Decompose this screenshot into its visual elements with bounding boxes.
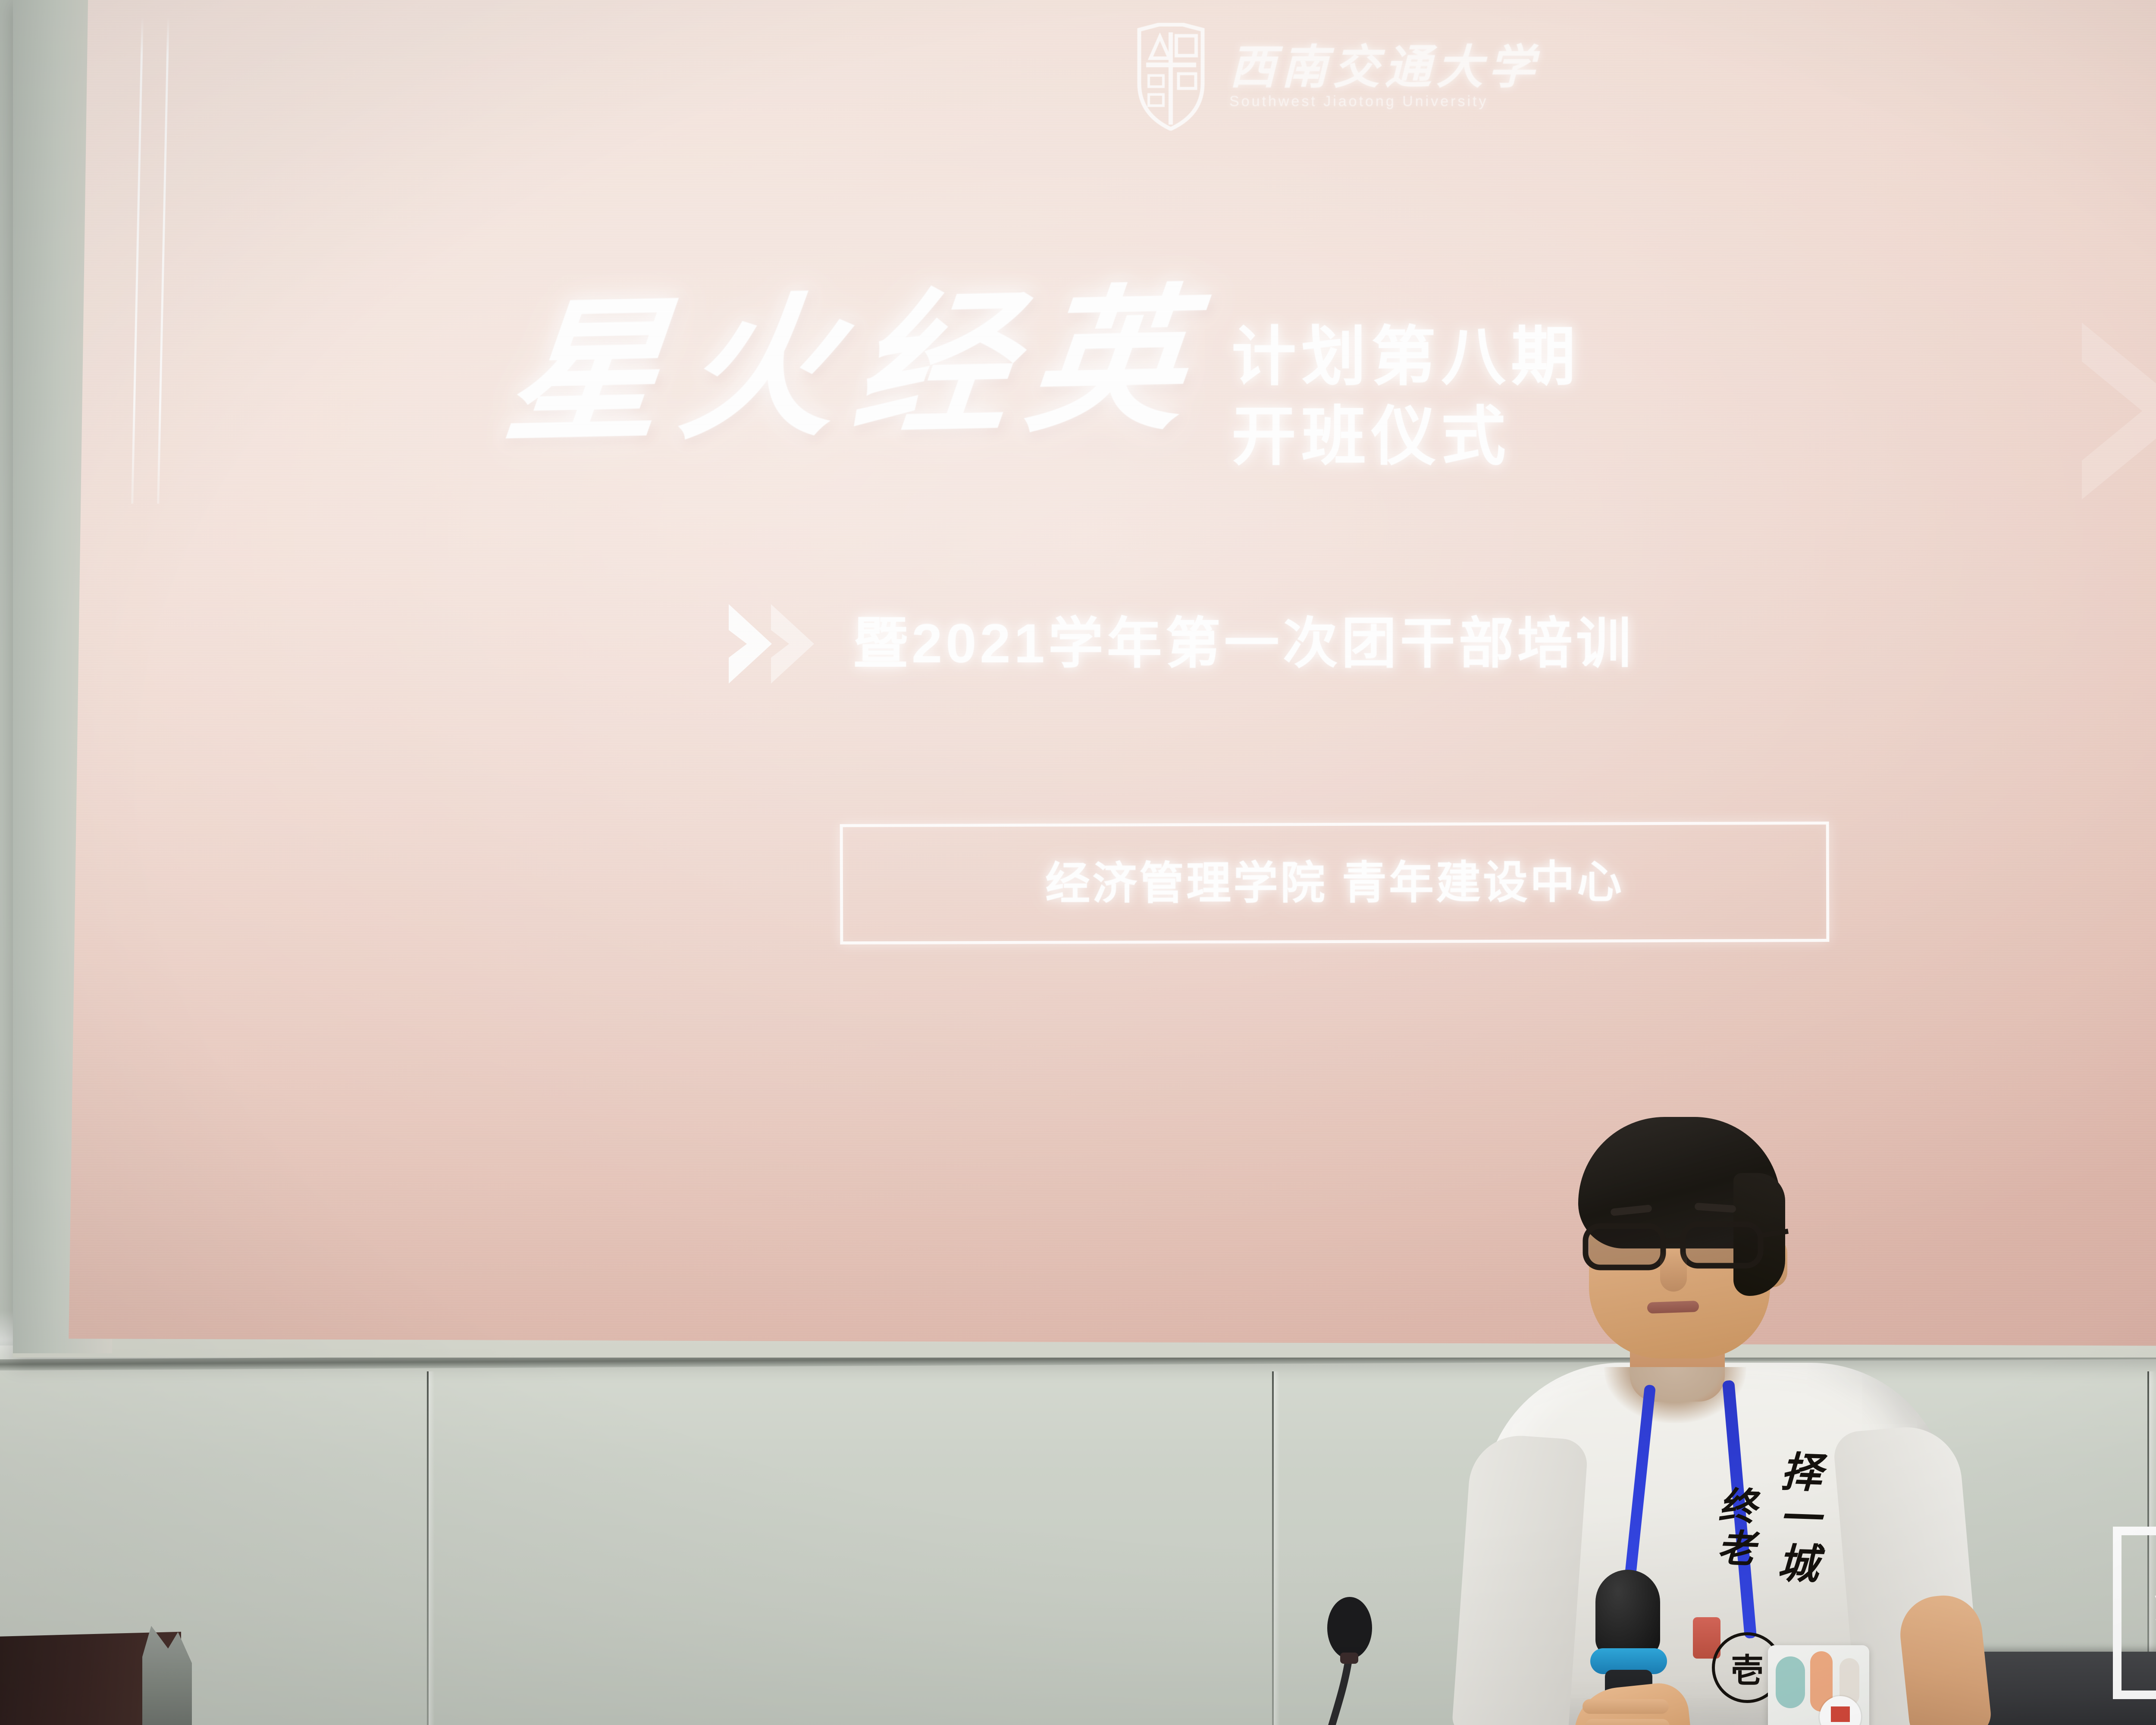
speaker-mouth	[1647, 1301, 1699, 1314]
id-badge-icon	[1768, 1645, 1869, 1725]
organizer-box: 经济管理学院 青年建设中心	[840, 822, 1830, 944]
gooseneck-microphone-icon	[1294, 1596, 1406, 1725]
tshirt-calligraphy-col2: 终老	[1704, 1485, 1762, 1571]
speaker-right-arm	[1896, 1592, 1993, 1725]
organizer-text: 经济管理学院 青年建设中心	[1045, 860, 1624, 906]
double-chevron-right-icon	[724, 601, 823, 687]
chevron-right-decor	[2065, 318, 2156, 504]
tshirt-calligraphy-col1: 择一城	[1764, 1449, 1828, 1589]
vertical-double-line-decor	[128, 16, 189, 504]
slide-subtitle: 暨2021学年第一次团干部培训	[853, 616, 1635, 671]
bracket-frame-icon	[2113, 1527, 2156, 1699]
speaker-nose	[1660, 1251, 1687, 1292]
media-watermark: 经英传媒 2021 MEDIA	[2113, 1527, 2156, 1699]
wall-panel-seam-highlight	[429, 1371, 435, 1725]
slide-subtitle-row: 暨2021学年第一次团干部培训	[724, 594, 2103, 693]
university-name-cn: 西南交通大学	[1229, 45, 1540, 91]
wall-panel-seam-highlight	[1274, 1371, 1280, 1725]
university-logo: 西南交通大学 Southwest Jiaotong University	[1133, 21, 1564, 133]
photo-scene: 西南交通大学 Southwest Jiaotong University 星火经…	[0, 0, 2156, 1725]
slide-title-line1: 计划第八期	[1232, 323, 1581, 391]
slide-title-row: 星火经英 计划第八期 开班仪式	[508, 292, 2060, 517]
slide-title-line2: 开班仪式	[1232, 402, 1581, 471]
slide-title-side: 计划第八期 开班仪式	[1232, 323, 1581, 471]
university-name-en: Southwest Jiaotong University	[1229, 94, 1540, 109]
watermark-brand: 经英传媒	[2154, 1547, 2156, 1677]
slide-title-main: 星火经英	[499, 285, 1210, 452]
shield-crest-icon	[1133, 23, 1209, 131]
speaker-person: 择一城 终老 壱	[1436, 1108, 2005, 1725]
handheld-microphone-icon	[1565, 1570, 1695, 1725]
mic-windscreen	[1595, 1570, 1660, 1656]
